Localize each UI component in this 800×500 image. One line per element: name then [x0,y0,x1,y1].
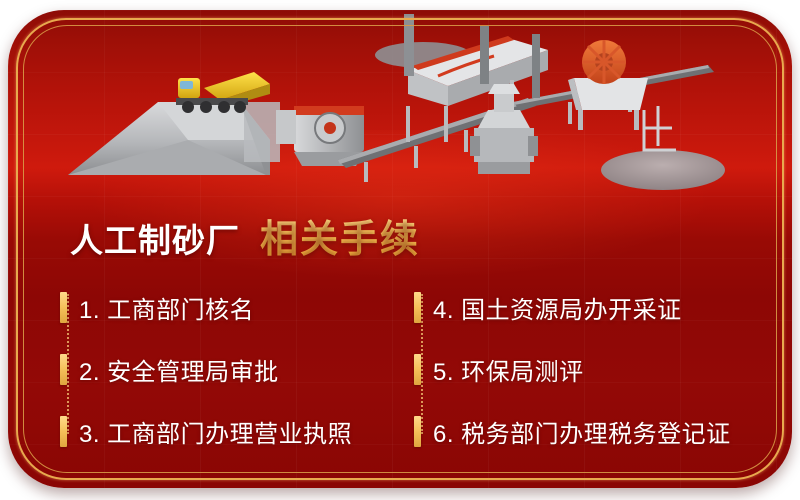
list-item: 2. 安全管理局审批 [60,338,406,400]
sand-washing-machine [568,40,676,150]
list-item: 1. 工商部门核名 [60,276,406,338]
list-item: 6. 税务部门办理税务登记证 [414,400,760,462]
list-marker-bar [60,416,67,447]
procedures-column-left: 1. 工商部门核名 2. 安全管理局审批 3. 工商部门办理营业执照 [60,276,406,462]
headline-gold-text: 相关手续 [260,208,420,263]
production-line-illustration [8,10,792,210]
list-item-label: 6. 税务部门办理税务登记证 [433,414,731,449]
list-item-label: 2. 安全管理局审批 [79,352,279,387]
red-plaque-panel: 人工制砂厂 相关手续 1. 工商部门核名 2. 安全管理局审批 3. 工商部门办… [8,10,792,488]
list-marker-bar [60,292,67,323]
sand-pile [601,150,725,190]
feed-hopper [68,102,280,175]
vsi-sand-maker [470,84,538,174]
list-item: 3. 工商部门办理营业执照 [60,400,406,462]
list-marker-bar [414,292,421,323]
procedures-list: 1. 工商部门核名 2. 安全管理局审批 3. 工商部门办理营业执照 4. 国土… [60,276,760,462]
headline-white-text: 人工制砂厂 [70,214,240,262]
list-item-label: 1. 工商部门核名 [79,290,254,325]
list-item: 4. 国土资源局办开采证 [414,276,760,338]
poster-canvas: 人工制砂厂 相关手续 1. 工商部门核名 2. 安全管理局审批 3. 工商部门办… [0,0,800,500]
headline: 人工制砂厂 相关手续 [70,208,420,263]
support-frame [644,106,676,150]
wash-wheel [582,40,626,84]
list-item-label: 4. 国土资源局办开采证 [433,290,682,325]
list-marker-bar [414,354,421,385]
list-item-label: 5. 环保局测评 [433,352,584,387]
list-item-label: 3. 工商部门办理营业执照 [79,414,352,449]
list-marker-bar [60,354,67,385]
list-item: 5. 环保局测评 [414,338,760,400]
procedures-column-right: 4. 国土资源局办开采证 5. 环保局测评 6. 税务部门办理税务登记证 [414,276,760,462]
list-marker-bar [414,416,421,447]
